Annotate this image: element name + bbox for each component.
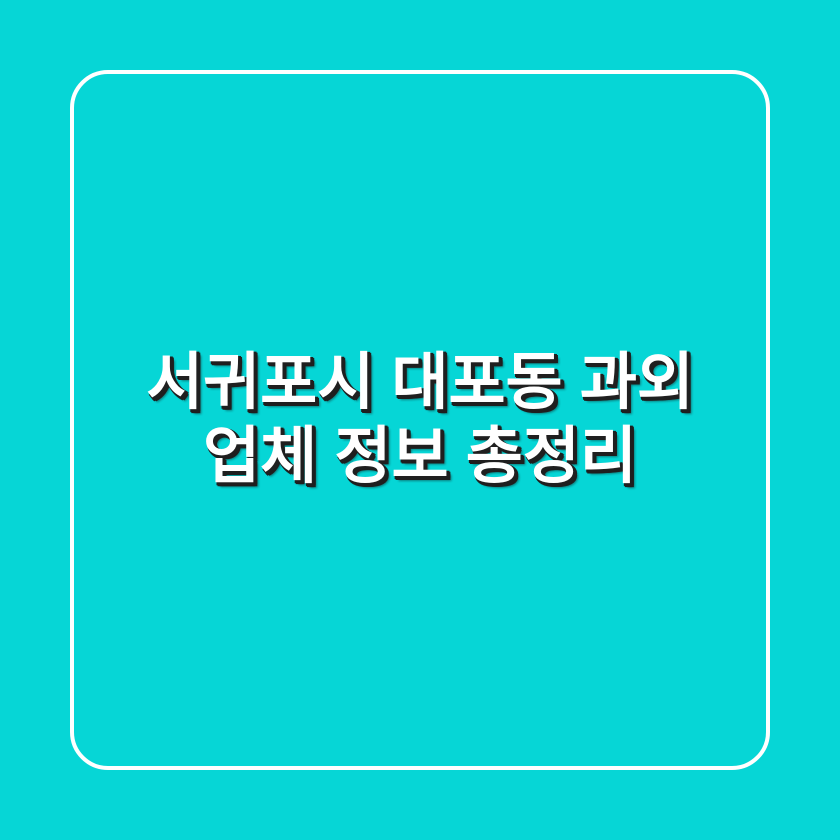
title-block: 서귀포시 대포동 과외 업체 정보 총정리: [0, 0, 840, 840]
thumbnail-canvas: 서귀포시 대포동 과외 업체 정보 총정리: [0, 0, 840, 840]
title-line-2: 업체 정보 총정리: [80, 420, 760, 494]
title-line-1: 서귀포시 대포동 과외: [80, 346, 760, 420]
